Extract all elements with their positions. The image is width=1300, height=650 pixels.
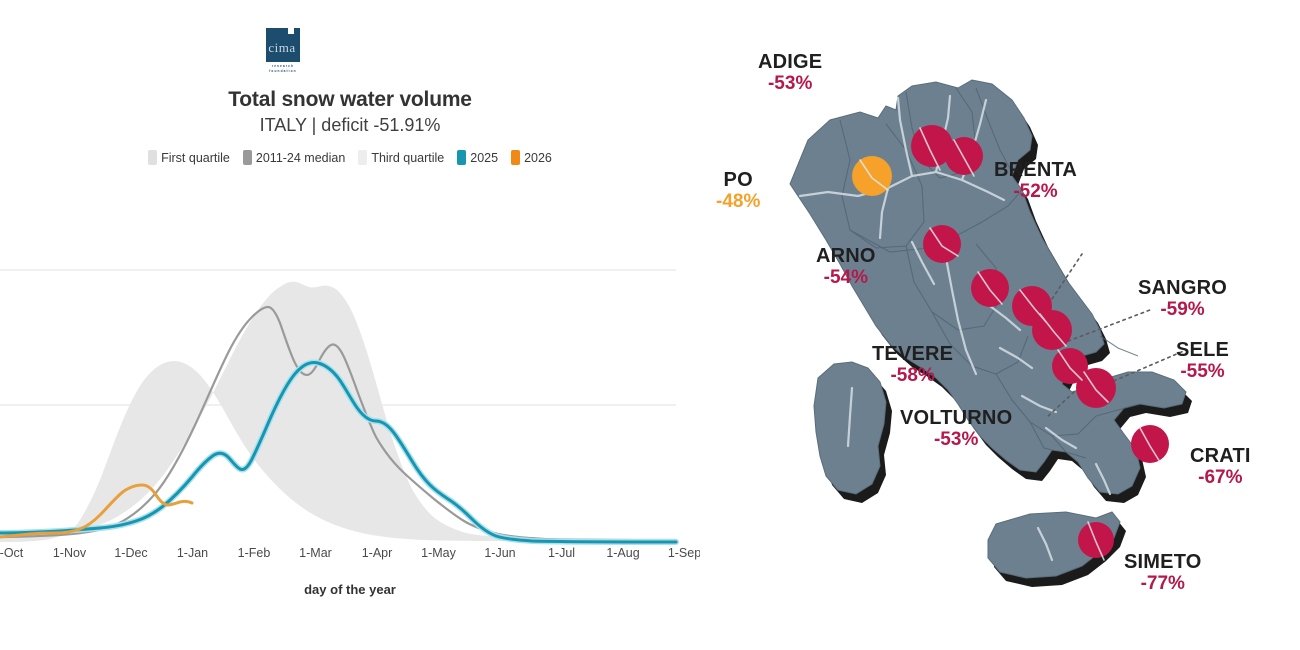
chart-x-axis: 1-Oct1-Nov1-Dec1-Jan1-Feb1-Mar1-Apr1-May… [0,543,700,567]
x-axis-tick-1-feb: 1-Feb [238,546,271,560]
basin-name: PO [716,170,760,192]
logo-notch [288,28,294,34]
x-axis-tick-1-jun: 1-Jun [484,546,515,560]
basin-name: BRENTA [994,160,1077,182]
basin-name: CRATI [1190,446,1251,468]
legend-swatch-icon [457,150,466,165]
map-label-brenta: BRENTA-52% [994,160,1077,202]
x-axis-tick-1-aug: 1-Aug [606,546,639,560]
map-label-arno: ARNO-54% [816,246,876,288]
legend-swatch-icon [243,150,252,165]
x-axis-tick-1-may: 1-May [421,546,456,560]
basin-deficit-value: -53% [900,430,1012,451]
map-label-sangro: SANGRO-59% [1138,278,1227,320]
chart-legend: First quartile2011-24 medianThird quarti… [0,150,700,165]
x-axis-tick-1-mar: 1-Mar [299,546,332,560]
marker-po[interactable] [852,156,892,196]
basin-deficit-value: -53% [758,74,822,95]
map-label-adige: ADIGE-53% [758,52,822,94]
chart-plot-area [0,185,700,545]
marker-tevere[interactable] [971,269,1009,307]
chart-title: Total snow water volume [0,88,700,112]
marker-sele[interactable] [1076,368,1116,408]
legend-item-2026[interactable]: 2026 [511,150,552,165]
logo-subtitle-foundation: foundation [264,69,302,73]
basin-name: TEVERE [872,344,953,366]
basin-deficit-value: -54% [816,268,876,289]
x-axis-tick-1-jan: 1-Jan [177,546,208,560]
italy-deficit-map-panel: ADIGE-53% BRENTA-52% PO-48% ARNO-54% ATE… [700,0,1300,650]
italy-map-svg [700,0,1300,650]
legend-label: Third quartile [371,151,444,165]
basin-deficit-value: -52% [994,182,1077,203]
quartile-band-area [0,282,676,542]
marker-brenta[interactable] [945,137,983,175]
x-axis-tick-1-apr: 1-Apr [362,546,393,560]
basin-deficit-value: -77% [1124,574,1202,595]
legend-item-third-quartile[interactable]: Third quartile [358,150,444,165]
basin-deficit-value: -59% [1138,300,1227,321]
chart-subtitle: ITALY | deficit -51.91% [0,115,700,136]
legend-label: 2011-24 median [256,151,345,165]
legend-swatch-icon [148,150,157,165]
map-label-tevere: TEVERE-58% [872,344,953,386]
basin-name: VOLTURNO [900,408,1012,430]
basin-deficit-value: -67% [1190,468,1251,489]
legend-item-2025[interactable]: 2025 [457,150,498,165]
legend-item-2011-24-median[interactable]: 2011-24 median [243,150,345,165]
snow-water-volume-chart-panel: cima research foundation Total snow wate… [0,0,700,650]
legend-item-first-quartile[interactable]: First quartile [148,150,230,165]
legend-swatch-icon [511,150,520,165]
map-label-po: PO-48% [716,170,760,212]
x-axis-tick-1-sep: 1-Sep [668,546,701,560]
legend-swatch-icon [358,150,367,165]
basin-name: ADIGE [758,52,822,74]
legend-label: First quartile [161,151,230,165]
basin-name: ARNO [816,246,876,268]
infographic-root: cima research foundation Total snow wate… [0,0,1300,650]
map-label-sele: SELE-55% [1176,340,1229,382]
x-axis-tick-1-nov: 1-Nov [53,546,86,560]
map-label-volturno: VOLTURNO-53% [900,408,1012,450]
basin-name: SELE [1176,340,1229,362]
basin-deficit-value: -48% [716,192,760,213]
x-axis-tick-1-jul: 1-Jul [548,546,575,560]
basin-deficit-value: -55% [1176,362,1229,383]
chart-x-axis-label: day of the year [0,582,700,597]
marker-arno[interactable] [923,225,961,263]
legend-label: 2026 [524,151,552,165]
basin-name: SANGRO [1138,278,1227,300]
x-axis-tick-1-dec: 1-Dec [114,546,147,560]
x-axis-tick-1-oct: 1-Oct [0,546,23,560]
logo-wordmark: cima [267,41,297,54]
map-label-simeto: SIMETO-77% [1124,552,1202,594]
logo-subtitle-research: research [264,64,302,68]
marker-crati[interactable] [1131,425,1169,463]
map-label-crati: CRATI-67% [1190,446,1251,488]
legend-label: 2025 [470,151,498,165]
basin-name: SIMETO [1124,552,1202,574]
basin-deficit-value: -58% [872,366,953,387]
cima-logo-icon: cima research foundation [264,28,306,76]
